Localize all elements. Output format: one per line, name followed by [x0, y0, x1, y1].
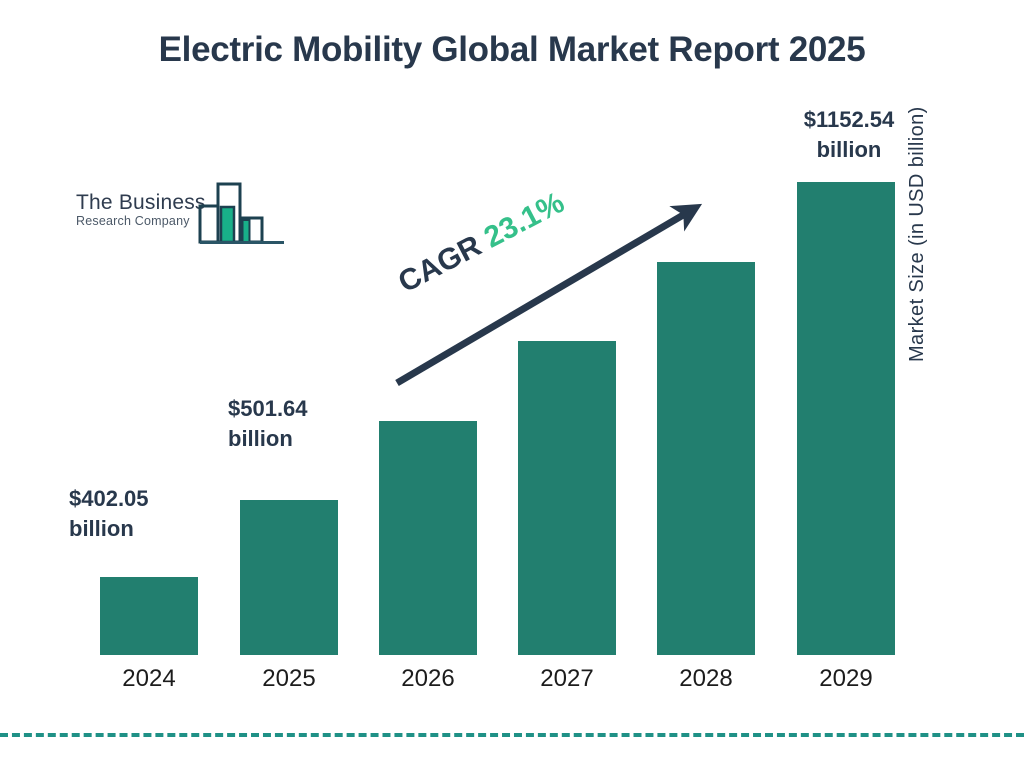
y-axis-title: Market Size (in USD billion): [906, 42, 929, 362]
x-tick-2027: 2027: [507, 665, 627, 693]
x-tick-2026: 2026: [368, 665, 488, 693]
x-tick-2028: 2028: [646, 665, 766, 693]
value-label-2024-amount: $402.05: [69, 484, 229, 514]
x-tick-2029: 2029: [786, 665, 906, 693]
value-label-2025-amount: $501.64: [228, 394, 388, 424]
bar-2027: [518, 341, 616, 655]
value-label-2024: $402.05 billion: [69, 484, 229, 544]
value-label-2024-unit: billion: [69, 514, 229, 544]
value-label-2029-amount: $1152.54: [769, 105, 929, 135]
bar-2024: [100, 577, 198, 655]
x-tick-2024: 2024: [89, 665, 209, 693]
bar-2029: [797, 182, 895, 655]
chart-canvas: Electric Mobility Global Market Report 2…: [0, 0, 1024, 768]
bar-2025: [240, 500, 338, 655]
value-label-2029-unit: billion: [769, 135, 929, 165]
footer-divider: [0, 733, 1024, 737]
value-label-2029: $1152.54 billion: [769, 105, 929, 165]
value-label-2025-unit: billion: [228, 424, 388, 454]
bar-2026: [379, 421, 477, 655]
bar-2028: [657, 262, 755, 655]
x-tick-2025: 2025: [229, 665, 349, 693]
value-label-2025: $501.64 billion: [228, 394, 388, 454]
plot-area: $402.05 billion $501.64 billion $1152.54…: [0, 0, 1024, 768]
